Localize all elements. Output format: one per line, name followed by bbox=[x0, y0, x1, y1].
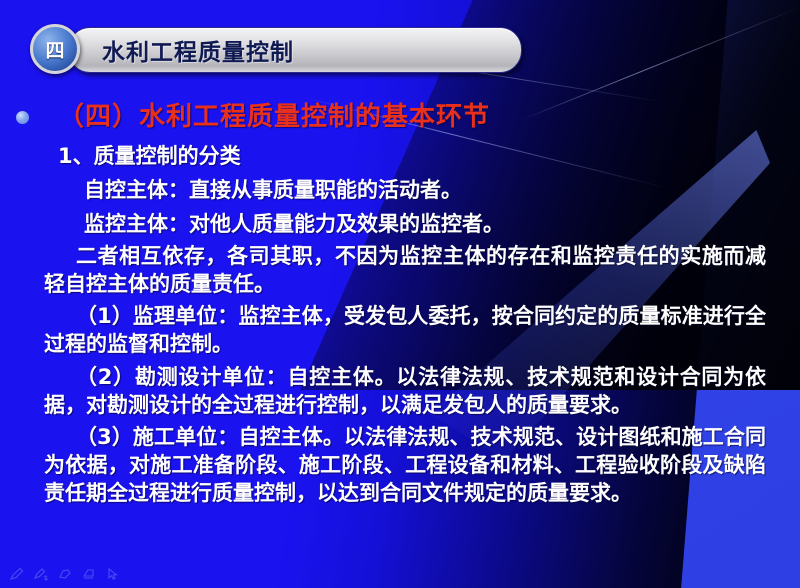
body-paragraph: 二者相互依存，各司其职，不因为监控主体的存在和监控责任的实施而减轻自控主体的质量… bbox=[0, 242, 800, 298]
content-block-list: 1、质量控制的分类自控主体：直接从事质量职能的活动者。监控主体：对他人质量能力及… bbox=[0, 140, 800, 507]
pen-icon[interactable] bbox=[8, 566, 26, 582]
header-title: 水利工程质量控制 bbox=[102, 33, 294, 67]
body-paragraph: （1）监理单位：监控主体，受发包人委托，按合同约定的质量标准进行全过程的监督和控… bbox=[0, 302, 800, 358]
arrow-pointer-icon[interactable] bbox=[104, 566, 122, 582]
eraser-icon[interactable] bbox=[80, 566, 98, 582]
chapter-number-badge: 四 bbox=[30, 24, 80, 74]
slide-header-banner: 水利工程质量控制 四 bbox=[30, 24, 522, 74]
body-line: 1、质量控制的分类 bbox=[0, 140, 800, 170]
body-line: 自控主体：直接从事质量职能的活动者。 bbox=[0, 174, 800, 204]
chapter-number-label: 四 bbox=[33, 27, 77, 71]
body-paragraph: （3）施工单位：自控主体。以法律法规、技术规范、设计图纸和施工合同为依据，对施工… bbox=[0, 423, 800, 507]
pen-ink-icon[interactable] bbox=[32, 566, 50, 582]
body-line: 监控主体：对他人质量能力及效果的监控者。 bbox=[0, 208, 800, 238]
highlighter-icon[interactable] bbox=[56, 566, 74, 582]
presentation-slide: 水利工程质量控制 四 （四）水利工程质量控制的基本环节 1、质量控制的分类自控主… bbox=[0, 0, 800, 588]
body-paragraph: （2）勘测设计单位：自控主体。以法律法规、技术规范和设计合同为依据，对勘测设计的… bbox=[0, 363, 800, 419]
section-title: （四）水利工程质量控制的基本环节 bbox=[0, 96, 800, 133]
slide-body: （四）水利工程质量控制的基本环节 1、质量控制的分类自控主体：直接从事质量职能的… bbox=[0, 96, 800, 511]
section-bullet-icon bbox=[16, 111, 29, 124]
ink-annotation-toolbar[interactable] bbox=[8, 566, 122, 582]
